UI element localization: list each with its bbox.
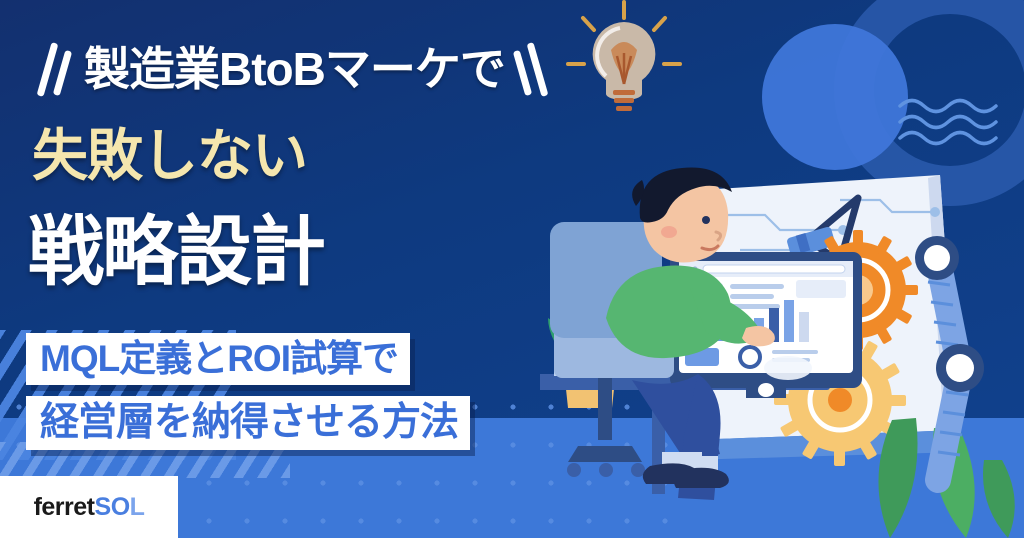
headline-line3: 戦略設計 xyxy=(28,215,324,291)
headline-line2: 失敗しない xyxy=(32,128,307,184)
subtitle-text-2: 経営層を納得させる方法 xyxy=(40,403,458,442)
banner-root: 製造業BtoBマーケで 失敗しない 戦略設計 MQL定義とROI試算で 経営層を… xyxy=(0,0,1024,538)
lightbulb-icon xyxy=(568,2,680,111)
subtitle-band-1: MQL定義とROI試算で xyxy=(26,333,410,385)
slash-right-icon xyxy=(515,38,549,100)
slash-left-icon xyxy=(40,38,74,100)
logo-word-ferret: ferret xyxy=(34,493,95,521)
logo-text: ferretSOL xyxy=(34,493,145,522)
headline-line1-row: 製造業BtoBマーケで xyxy=(40,38,549,100)
desk-papers xyxy=(764,356,812,380)
headline-line1: 製造業BtoBマーケで xyxy=(84,46,505,92)
logo-letter-o: O xyxy=(111,493,130,521)
logo-ferret-sol[interactable]: ferretSOL xyxy=(0,476,178,538)
logo-letter-l: L xyxy=(130,493,145,521)
logo-letter-s: S xyxy=(95,493,111,521)
subtitle-band-2: 経営層を納得させる方法 xyxy=(26,396,470,450)
illustration-scene xyxy=(540,0,1024,538)
subtitle-text-1: MQL定義とROI試算で xyxy=(40,340,398,377)
